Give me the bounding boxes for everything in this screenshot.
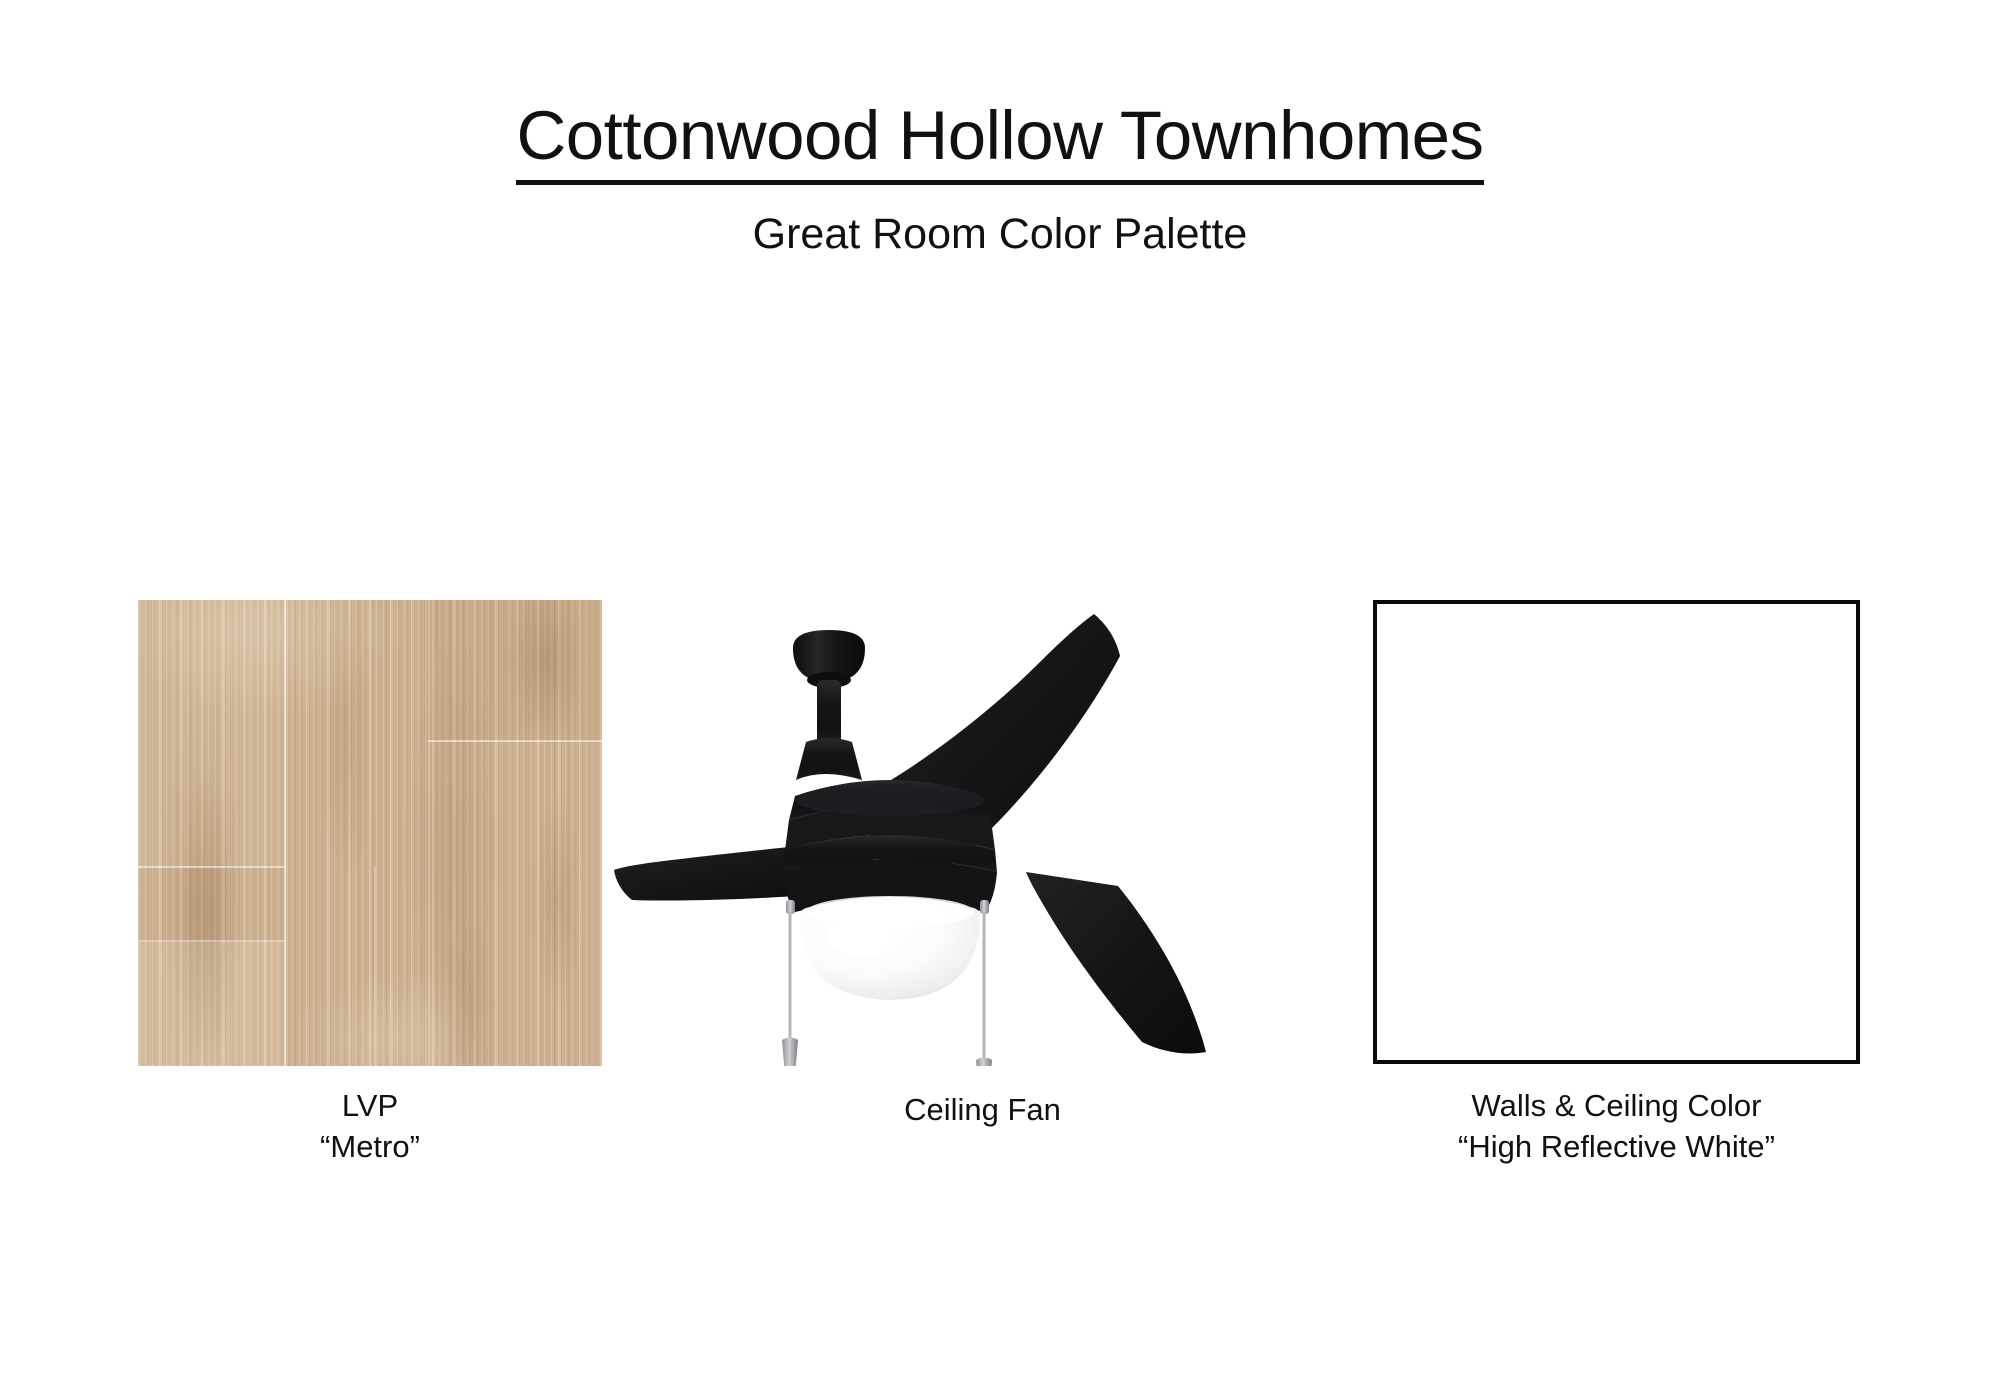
ceiling-fan-illustration <box>610 600 1355 1066</box>
plank-seam <box>428 740 602 742</box>
palette-item-ceiling-fan: Ceiling Fan <box>610 600 1355 1066</box>
palette-item-walls-ceiling: Walls & Ceiling Color “High Reflective W… <box>1373 600 1860 1064</box>
fan-canopy-icon <box>793 630 865 688</box>
walls-caption-line1: Walls & Ceiling Color <box>1313 1086 1920 1127</box>
ceiling-fan-caption: Ceiling Fan <box>610 1090 1355 1131</box>
lvp-caption: LVP “Metro” <box>98 1086 642 1168</box>
fan-coupler-icon <box>796 738 862 780</box>
fan-motor-housing-icon <box>783 780 997 912</box>
ceiling-fan-image <box>610 600 1355 1066</box>
plank-shade <box>428 600 602 740</box>
lvp-caption-line2: “Metro” <box>98 1127 642 1168</box>
plank-shade <box>138 600 284 866</box>
lvp-caption-line1: LVP <box>98 1086 642 1127</box>
walls-ceiling-color-swatch <box>1373 600 1860 1064</box>
page-subtitle: Great Room Color Palette <box>0 211 2000 258</box>
palette-row: LVP “Metro” <box>0 600 2000 1300</box>
fan-light-globe-icon <box>800 896 980 1000</box>
palette-item-lvp: LVP “Metro” <box>138 600 602 1066</box>
plank-seam <box>284 600 286 1066</box>
ceiling-fan-caption-line1: Ceiling Fan <box>610 1090 1355 1131</box>
plank-seam <box>374 866 376 1066</box>
page-header: Cottonwood Hollow Townhomes Great Room C… <box>0 100 2000 259</box>
plank-seam <box>138 866 284 868</box>
plank-shade <box>138 940 284 1066</box>
walls-caption-line2: “High Reflective White” <box>1313 1127 1920 1168</box>
walls-ceiling-caption: Walls & Ceiling Color “High Reflective W… <box>1313 1086 1920 1168</box>
page-title: Cottonwood Hollow Townhomes <box>516 100 1483 185</box>
fan-downrod-icon <box>817 680 841 746</box>
fan-pull-chain-left <box>782 900 798 1066</box>
lvp-wood-swatch <box>138 600 602 1066</box>
color-palette-page: Cottonwood Hollow Townhomes Great Room C… <box>0 0 2000 1391</box>
fan-blade-lower-right <box>1026 872 1206 1054</box>
